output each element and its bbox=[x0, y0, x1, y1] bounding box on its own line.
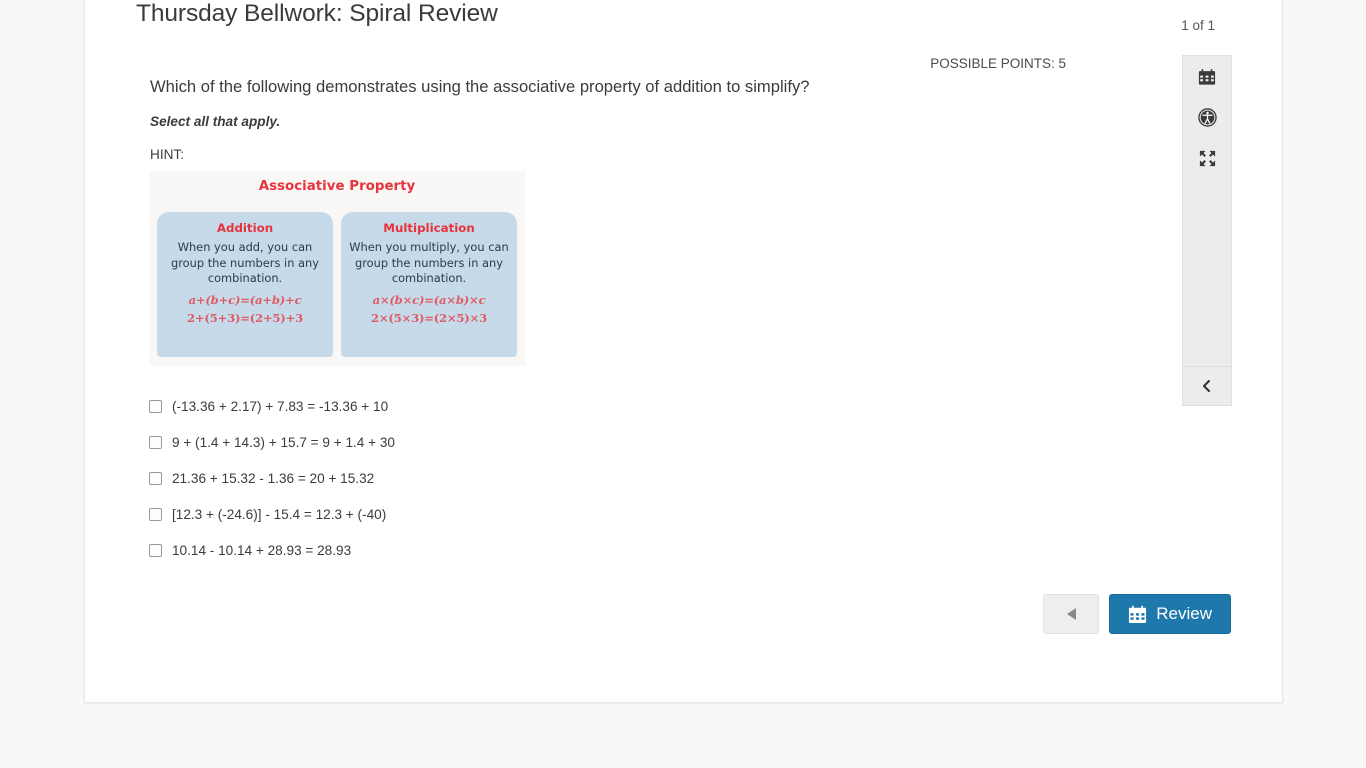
accessibility-icon bbox=[1198, 108, 1217, 127]
possible-points-label: POSSIBLE POINTS: 5 bbox=[930, 56, 1066, 71]
page-root: Thursday Bellwork: Spiral Review 1 of 1 … bbox=[0, 0, 1366, 768]
hint-formula-nums: 2+(5+3)=(2+5)+3 bbox=[157, 311, 333, 325]
card-header: Thursday Bellwork: Spiral Review 1 of 1 bbox=[85, 0, 1282, 44]
fullscreen-icon bbox=[1198, 149, 1217, 168]
option-checkbox[interactable] bbox=[149, 508, 162, 521]
review-button-label: Review bbox=[1156, 604, 1212, 624]
accessibility-tool-button[interactable] bbox=[1183, 97, 1231, 138]
option-checkbox[interactable] bbox=[149, 472, 162, 485]
calendar-icon bbox=[1128, 605, 1147, 624]
tool-panel bbox=[1182, 55, 1232, 406]
option-row[interactable]: (-13.36 + 2.17) + 7.83 = -13.36 + 10 bbox=[149, 388, 1181, 424]
triangle-left-icon bbox=[1067, 608, 1076, 620]
option-row[interactable]: 10.14 - 10.14 + 28.93 = 28.93 bbox=[149, 532, 1181, 568]
hint-column-title: Multiplication bbox=[341, 221, 517, 235]
hint-column-text: When you add, you can group the numbers … bbox=[157, 240, 333, 285]
hint-column-addition: Addition When you add, you can group the… bbox=[157, 212, 333, 357]
option-label: (-13.36 + 2.17) + 7.83 = -13.36 + 10 bbox=[172, 399, 388, 414]
hint-column-title: Addition bbox=[157, 221, 333, 235]
assessment-card: Thursday Bellwork: Spiral Review 1 of 1 … bbox=[84, 0, 1283, 703]
option-checkbox[interactable] bbox=[149, 544, 162, 557]
hint-column-text: When you multiply, you can group the num… bbox=[341, 240, 517, 285]
hint-formula-nums: 2×(5×3)=(2×5)×3 bbox=[341, 311, 517, 325]
option-label: [12.3 + (-24.6)] - 15.4 = 12.3 + (-40) bbox=[172, 507, 386, 522]
option-row[interactable]: [12.3 + (-24.6)] - 15.4 = 12.3 + (-40) bbox=[149, 496, 1181, 532]
option-row[interactable]: 9 + (1.4 + 14.3) + 15.7 = 9 + 1.4 + 30 bbox=[149, 424, 1181, 460]
option-label: 9 + (1.4 + 14.3) + 15.7 = 9 + 1.4 + 30 bbox=[172, 435, 395, 450]
page-title: Thursday Bellwork: Spiral Review bbox=[136, 0, 498, 28]
review-button[interactable]: Review bbox=[1109, 594, 1231, 634]
chevron-left-icon bbox=[1200, 379, 1214, 393]
answer-options: (-13.36 + 2.17) + 7.83 = -13.36 + 10 9 +… bbox=[149, 388, 1181, 568]
option-row[interactable]: 21.36 + 15.32 - 1.36 = 20 + 15.32 bbox=[149, 460, 1181, 496]
hint-formula-vars: a×(b×c)=(a×b)×c bbox=[341, 293, 517, 307]
option-label: 10.14 - 10.14 + 28.93 = 28.93 bbox=[172, 543, 351, 558]
option-checkbox[interactable] bbox=[149, 436, 162, 449]
hint-image: Associative Property Addition When you a… bbox=[149, 171, 525, 366]
option-checkbox[interactable] bbox=[149, 400, 162, 413]
question-body: POSSIBLE POINTS: 5 Which of the followin… bbox=[85, 44, 1181, 568]
previous-question-button[interactable] bbox=[1043, 594, 1099, 634]
calendar-icon bbox=[1198, 68, 1216, 86]
option-label: 21.36 + 15.32 - 1.36 = 20 + 15.32 bbox=[172, 471, 374, 486]
collapse-tool-panel-button[interactable] bbox=[1182, 366, 1232, 406]
footer-actions: Review bbox=[1043, 594, 1231, 634]
hint-formula-vars: a+(b+c)=(a+b)+c bbox=[157, 293, 333, 307]
hint-image-title: Associative Property bbox=[149, 179, 525, 194]
page-counter: 1 of 1 bbox=[1181, 18, 1215, 33]
hint-label: HINT: bbox=[150, 147, 1181, 162]
points-row: POSSIBLE POINTS: 5 bbox=[85, 44, 1181, 72]
question-stem: Which of the following demonstrates usin… bbox=[150, 76, 1181, 98]
calendar-tool-button[interactable] bbox=[1183, 56, 1231, 97]
select-all-note: Select all that apply. bbox=[150, 114, 1181, 129]
fullscreen-tool-button[interactable] bbox=[1183, 138, 1231, 179]
hint-column-multiplication: Multiplication When you multiply, you ca… bbox=[341, 212, 517, 357]
